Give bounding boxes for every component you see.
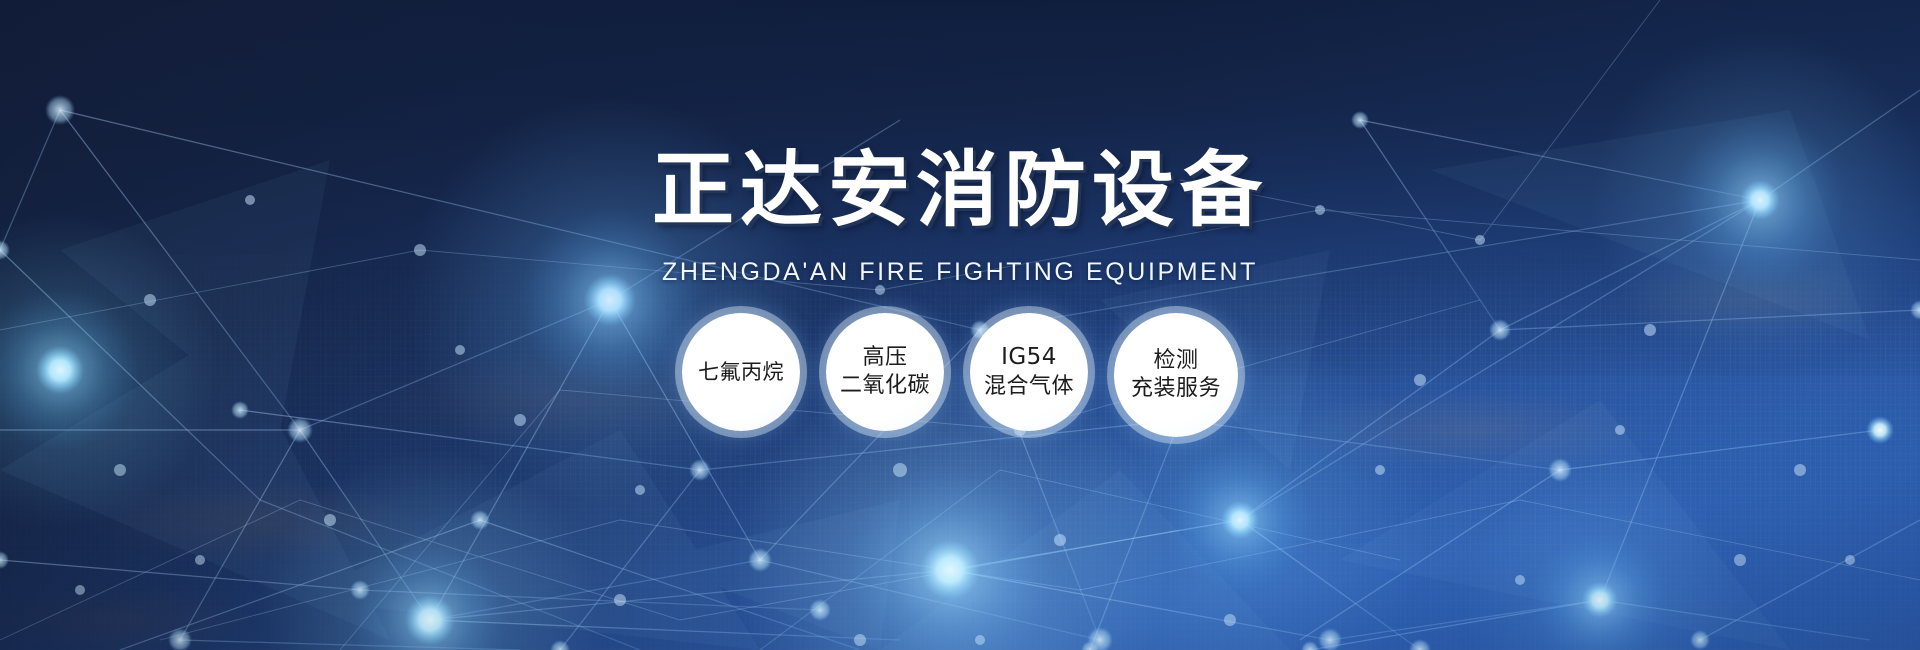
badge-ig54-mixed-gas[interactable]: IG54 混合气体	[970, 313, 1088, 431]
product-badge-row: 七氟丙烷 高压 二氧化碳 IG54 混合气体 检测 充装服务	[0, 313, 1920, 437]
hero-banner: 正达安消防设备 ZHENGDA'AN FIRE FIGHTING EQUIPME…	[0, 0, 1920, 650]
badge-label-line-2: 混合气体	[984, 373, 1074, 401]
banner-content: 正达安消防设备 ZHENGDA'AN FIRE FIGHTING EQUIPME…	[0, 0, 1920, 650]
badge-heptafluoropropane[interactable]: 七氟丙烷	[682, 313, 800, 431]
badge-testing-filling-service[interactable]: 检测 充装服务	[1114, 313, 1238, 437]
badge-high-pressure-co2[interactable]: 高压 二氧化碳	[826, 313, 944, 431]
badge-label-line-1: 高压	[862, 344, 907, 372]
brand-subtitle: ZHENGDA'AN FIRE FIGHTING EQUIPMENT	[0, 258, 1920, 287]
badge-label-line-1: 七氟丙烷	[698, 359, 784, 386]
badge-label-line-1: 检测	[1153, 347, 1198, 375]
badge-label-line-2: 二氧化碳	[840, 372, 930, 400]
badge-label-line-1: IG54	[1001, 343, 1057, 372]
badge-label-line-2: 充装服务	[1131, 375, 1221, 403]
brand-title: 正达安消防设备	[0, 150, 1920, 232]
